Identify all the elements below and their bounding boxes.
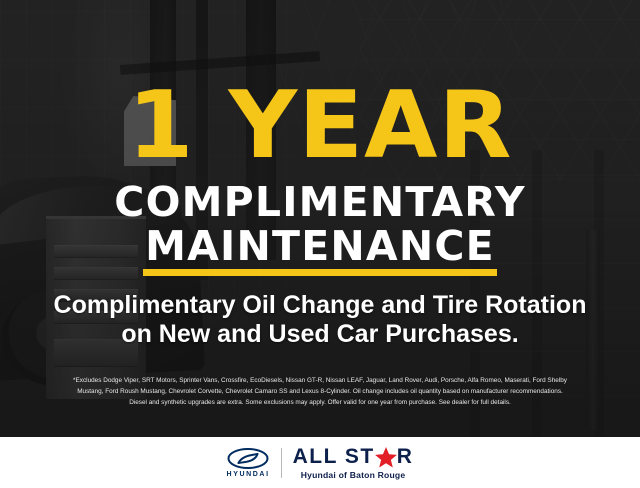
- hyundai-logo: HYUNDAI: [227, 448, 270, 478]
- logo-group: HYUNDAI ALL ST R Hyundai of Baton Rouge: [227, 446, 414, 480]
- disclaimer-line-1: *Excludes Dodge Viper, SRT Motors, Sprin…: [14, 375, 626, 386]
- offer-line-1: Complimentary Oil Change and Tire Rotati…: [0, 291, 640, 320]
- offer-line-2: on New and Used Car Purchases.: [0, 320, 640, 349]
- disclaimer-line-2: Mustang, Ford Roush Mustang, Chevrolet C…: [14, 386, 626, 397]
- logo-divider: [281, 448, 282, 478]
- headline-1-year: 1 YEAR: [0, 79, 640, 172]
- banner-content: 1 YEAR COMPLIMENTARY MAINTENANCE Complim…: [0, 0, 640, 437]
- all-star-text-end: R: [397, 446, 414, 468]
- footer-logo-bar: HYUNDAI ALL ST R Hyundai of Baton Rouge: [0, 437, 640, 488]
- all-star-wordmark: ALL ST R: [293, 446, 414, 469]
- disclaimer-fine-print: *Excludes Dodge Viper, SRT Motors, Sprin…: [14, 375, 626, 408]
- subheading-maintenance: MAINTENANCE: [0, 226, 640, 267]
- disclaimer-line-3: Diesel and synthetic upgrades are extra.…: [14, 397, 626, 408]
- red-star-icon: [374, 446, 398, 469]
- offer-description: Complimentary Oil Change and Tire Rotati…: [0, 291, 640, 349]
- subheading-complimentary: COMPLIMENTARY: [0, 182, 640, 223]
- dealer-tagline: Hyundai of Baton Rouge: [301, 470, 406, 480]
- all-star-text-start: ALL ST: [293, 446, 375, 468]
- all-star-dealer-logo: ALL ST R Hyundai of Baton Rouge: [293, 446, 414, 480]
- yellow-divider-rule: [143, 269, 497, 276]
- hyundai-wordmark: HYUNDAI: [227, 471, 270, 478]
- hyundai-oval-h-icon: [227, 448, 269, 469]
- promotional-banner: 1 YEAR COMPLIMENTARY MAINTENANCE Complim…: [0, 0, 640, 488]
